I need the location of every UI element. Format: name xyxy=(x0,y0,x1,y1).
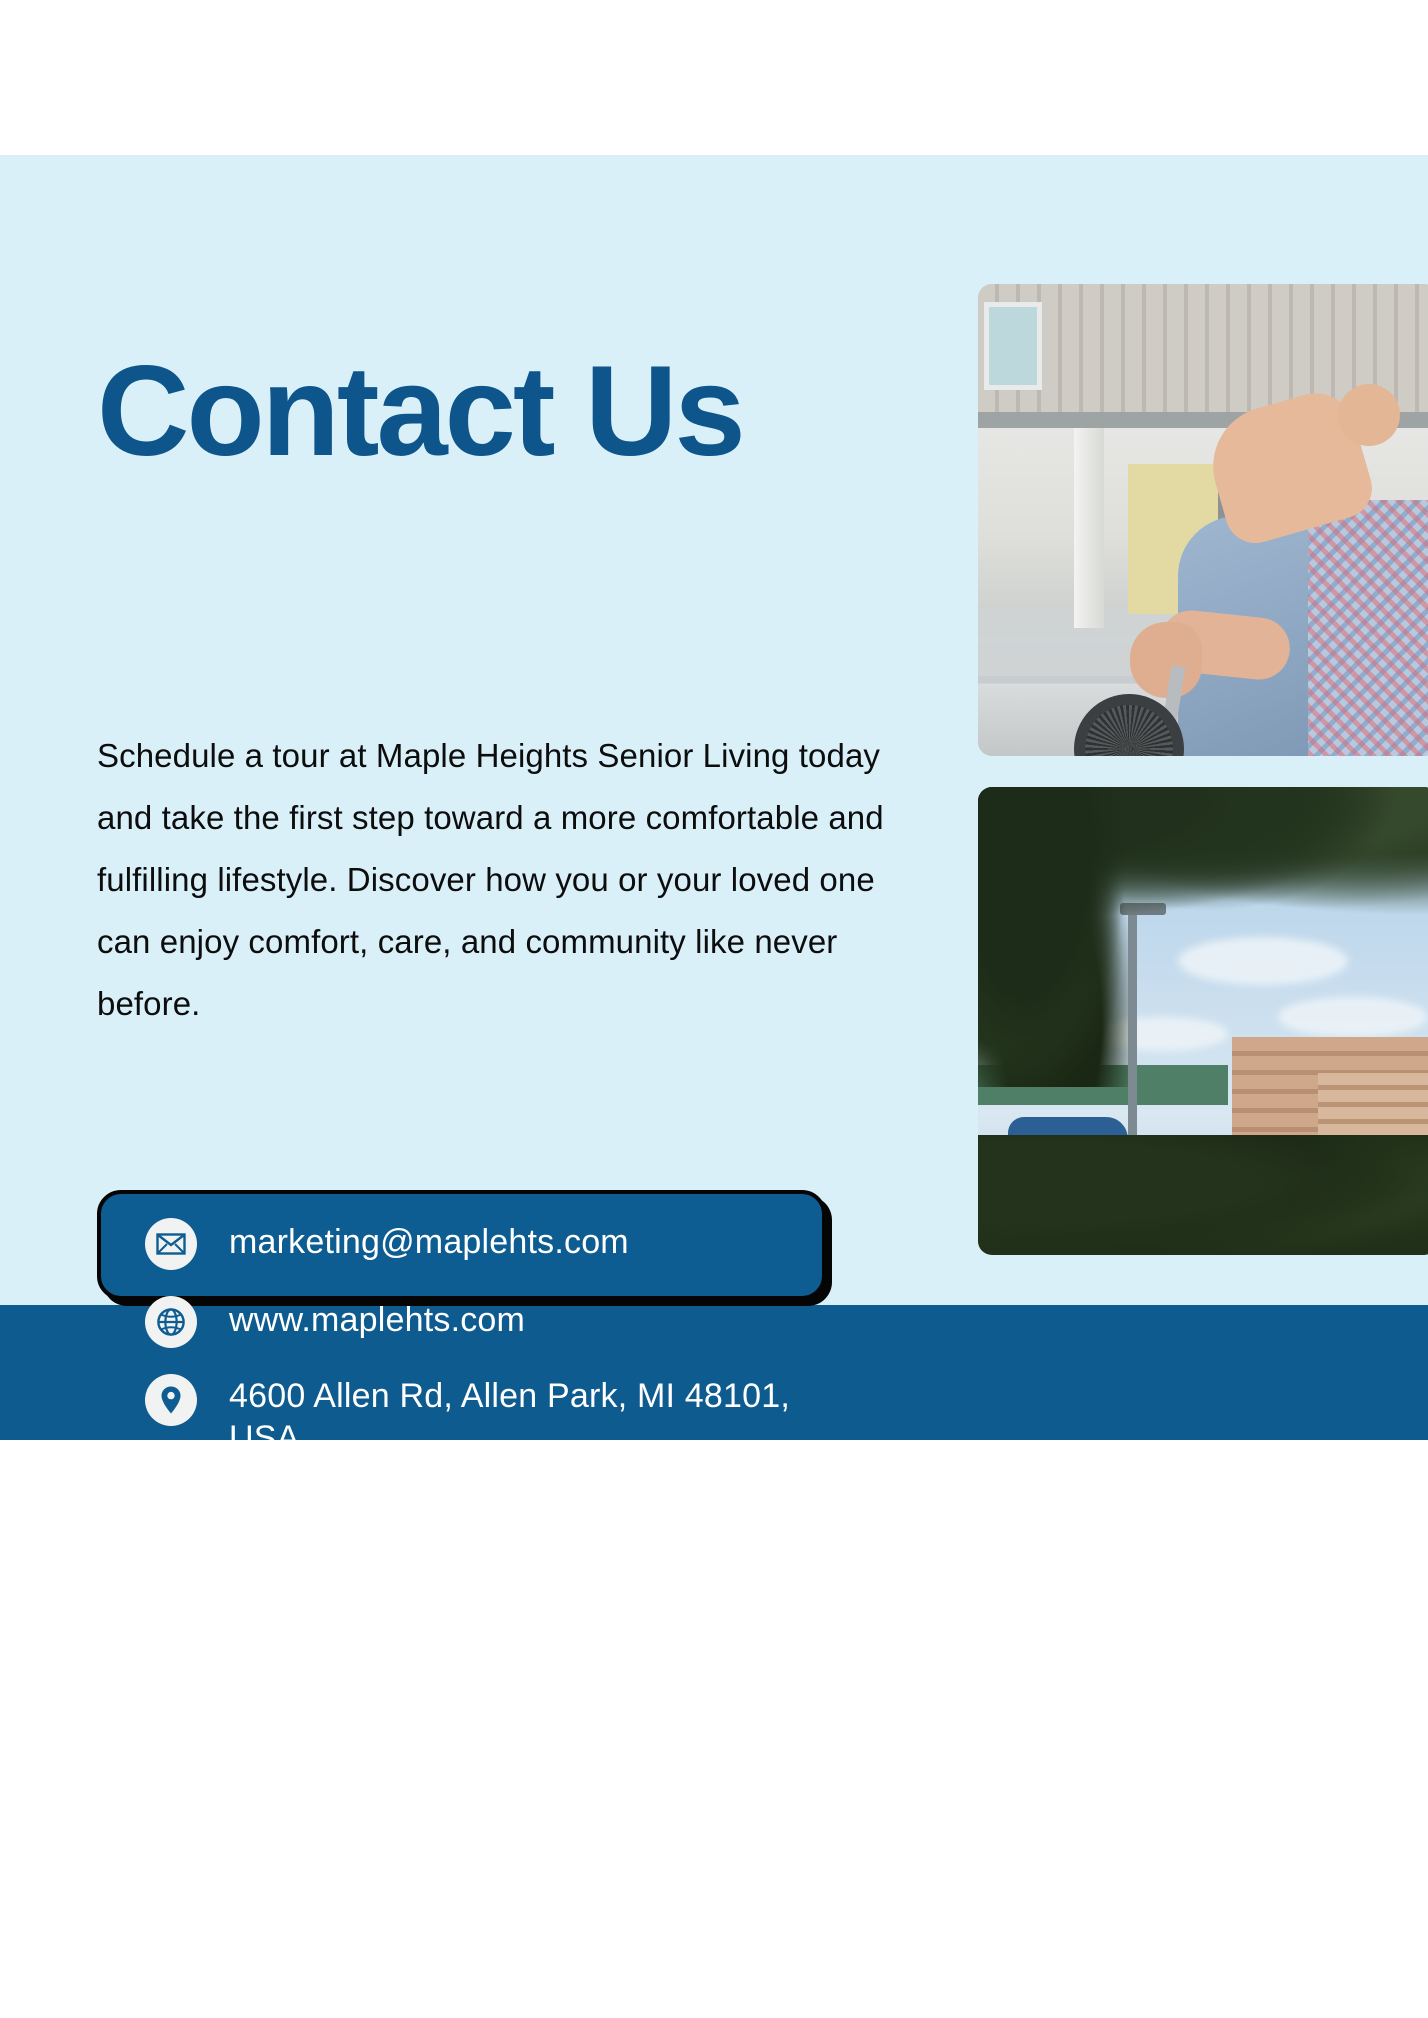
envelope-icon xyxy=(145,1218,197,1270)
contact-card: marketing@maplehts.com www.maplehts.com xyxy=(97,1190,832,1306)
senior-in-wheelchair-photo xyxy=(978,284,1428,756)
globe-icon xyxy=(145,1296,197,1348)
intro-paragraph: Schedule a tour at Maple Heights Senior … xyxy=(97,725,927,1035)
card-content: marketing@maplehts.com www.maplehts.com xyxy=(97,1190,832,1459)
poster-page: Contact Us Schedule a tour at Maple Heig… xyxy=(0,0,1428,2018)
location-pin-icon xyxy=(145,1374,197,1426)
contact-website-label: www.maplehts.com xyxy=(229,1296,525,1341)
page-title: Contact Us xyxy=(97,348,937,476)
community-exterior-photo xyxy=(978,787,1428,1255)
contact-address-label: 4600 Allen Rd, Allen Park, MI 48101, USA xyxy=(229,1374,832,1459)
contact-row-website[interactable]: www.maplehts.com xyxy=(145,1296,832,1348)
contact-row-address[interactable]: 4600 Allen Rd, Allen Park, MI 48101, USA xyxy=(145,1374,832,1459)
contact-row-email[interactable]: marketing@maplehts.com xyxy=(145,1218,832,1270)
contact-email-label: marketing@maplehts.com xyxy=(229,1218,629,1263)
